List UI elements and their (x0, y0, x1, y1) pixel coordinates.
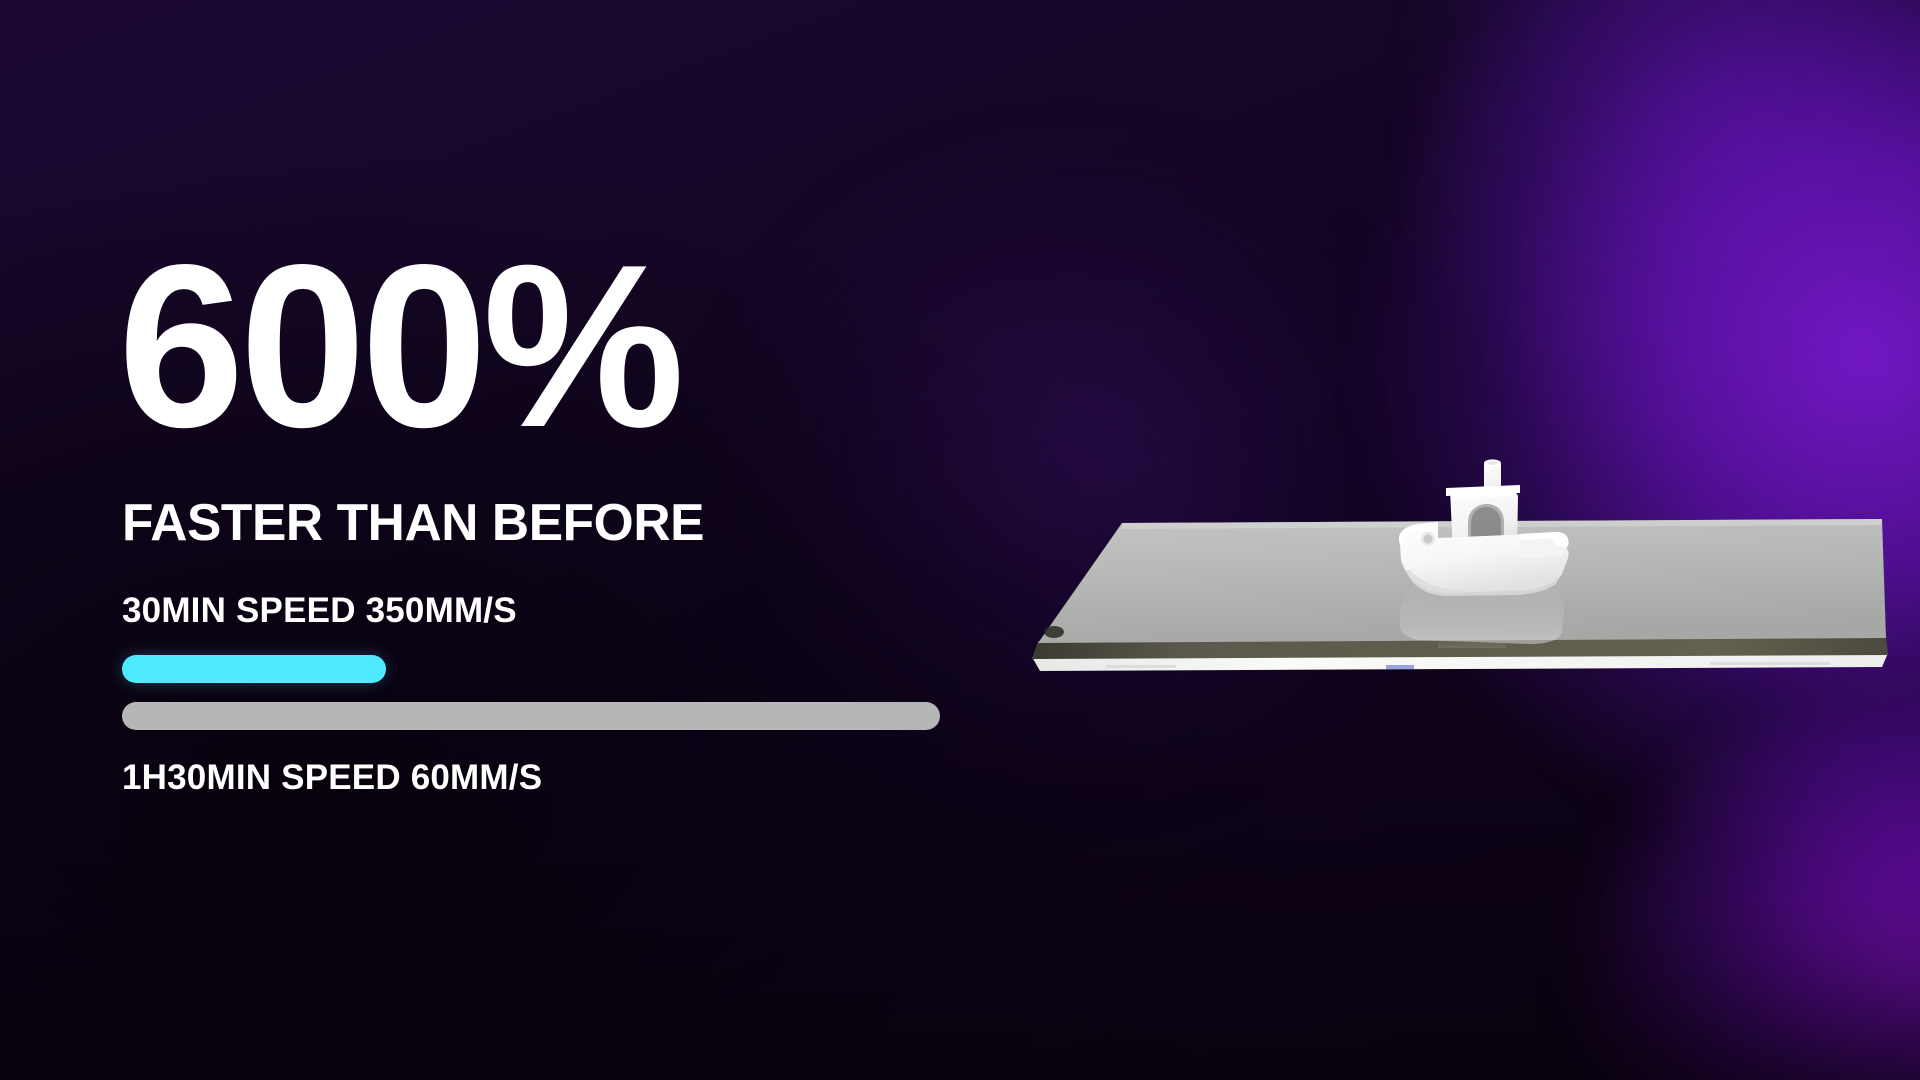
bed-base-seam-right (1710, 662, 1830, 665)
3d-benchy-boat (1380, 438, 1610, 648)
headline-percentage: 600% (118, 240, 1059, 453)
slow-speed-label: 1H30MIN SPEED 60MM/S (122, 758, 1078, 798)
slow-speed-bar (122, 702, 940, 730)
bed-base-tab (1386, 665, 1414, 669)
fast-speed-bar (122, 655, 386, 683)
background-bottom-fade (0, 750, 1920, 1080)
promo-scene: 600% FASTER THAN BEFORE 30MIN SPEED 350M… (0, 0, 1920, 1080)
fast-speed-label: 30MIN SPEED 350MM/S (122, 591, 1078, 631)
hero-text-block: 600% FASTER THAN BEFORE 30MIN SPEED 350M… (118, 240, 1078, 798)
bed-base-seam-left (1106, 665, 1176, 668)
speed-bars (122, 655, 1078, 730)
headline-subtitle: FASTER THAN BEFORE (122, 493, 1068, 553)
bed-clip-left (1044, 626, 1064, 638)
